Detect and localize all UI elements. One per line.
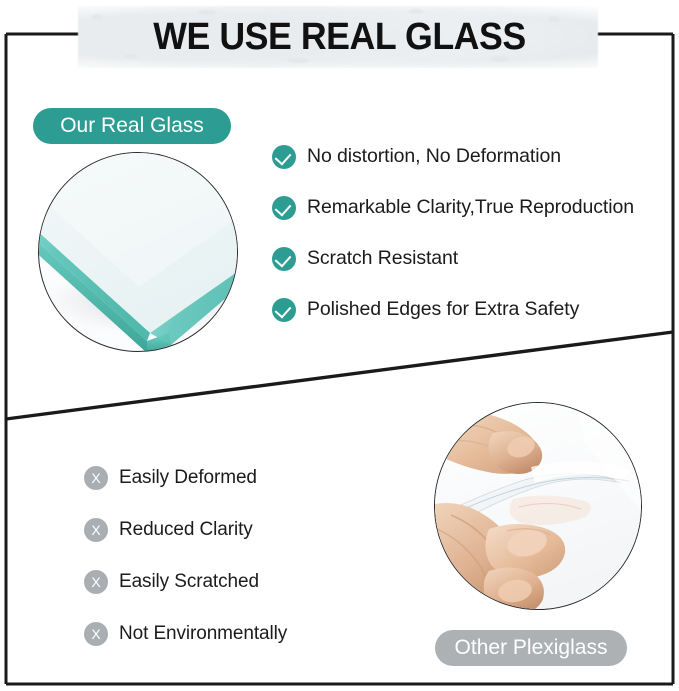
x-circle-icon: X [84, 570, 108, 594]
bending-plexiglass-photo [434, 402, 642, 610]
check-circle-icon [272, 298, 296, 322]
list-item: Scratch Resistant [272, 233, 634, 284]
list-item: No distortion, No Deformation [272, 131, 634, 182]
x-circle-icon-glyph: X [84, 466, 108, 490]
hands-bending-plexiglass-illustration [435, 403, 642, 610]
list-item: Remarkable Clarity,True Reproduction [272, 182, 634, 233]
badge-other-plexiglass: Other Plexiglass [435, 630, 627, 666]
cons-item-label: Easily Scratched [119, 571, 259, 593]
x-circle-icon: X [84, 622, 108, 646]
list-item: Polished Edges for Extra Safety [272, 284, 634, 335]
check-circle-icon [272, 247, 296, 271]
badge-our-real-glass: Our Real Glass [33, 108, 231, 144]
badge-other-plexiglass-label: Other Plexiglass [455, 636, 608, 660]
x-circle-icon: X [84, 518, 108, 542]
pros-item-label: Remarkable Clarity,True Reproduction [307, 196, 634, 219]
x-circle-icon: X [84, 466, 108, 490]
pros-item-label: Scratch Resistant [307, 247, 458, 270]
list-item: X Not Environmentally [84, 608, 287, 660]
real-glass-corner-photo [38, 152, 238, 352]
check-circle-icon [272, 196, 296, 220]
badge-our-real-glass-label: Our Real Glass [60, 114, 204, 138]
cons-item-label: Easily Deformed [119, 467, 257, 489]
glass-sheet-illustration [38, 152, 238, 352]
cons-list: X Easily Deformed X Reduced Clarity X Ea… [84, 452, 287, 660]
cons-item-label: Reduced Clarity [119, 519, 253, 541]
x-circle-icon-glyph: X [84, 622, 108, 646]
pros-item-label: No distortion, No Deformation [307, 145, 561, 168]
infographic-canvas: WE USE REAL GLASS Our Real Glass [0, 0, 679, 691]
pros-item-label: Polished Edges for Extra Safety [307, 298, 579, 321]
page-title: WE USE REAL GLASS [20, 17, 658, 57]
pros-list: No distortion, No Deformation Remarkable… [272, 131, 634, 335]
list-item: X Reduced Clarity [84, 504, 287, 556]
check-circle-icon [272, 145, 296, 169]
cons-item-label: Not Environmentally [119, 623, 287, 645]
list-item: X Easily Deformed [84, 452, 287, 504]
x-circle-icon-glyph: X [84, 570, 108, 594]
list-item: X Easily Scratched [84, 556, 287, 608]
x-circle-icon-glyph: X [84, 518, 108, 542]
